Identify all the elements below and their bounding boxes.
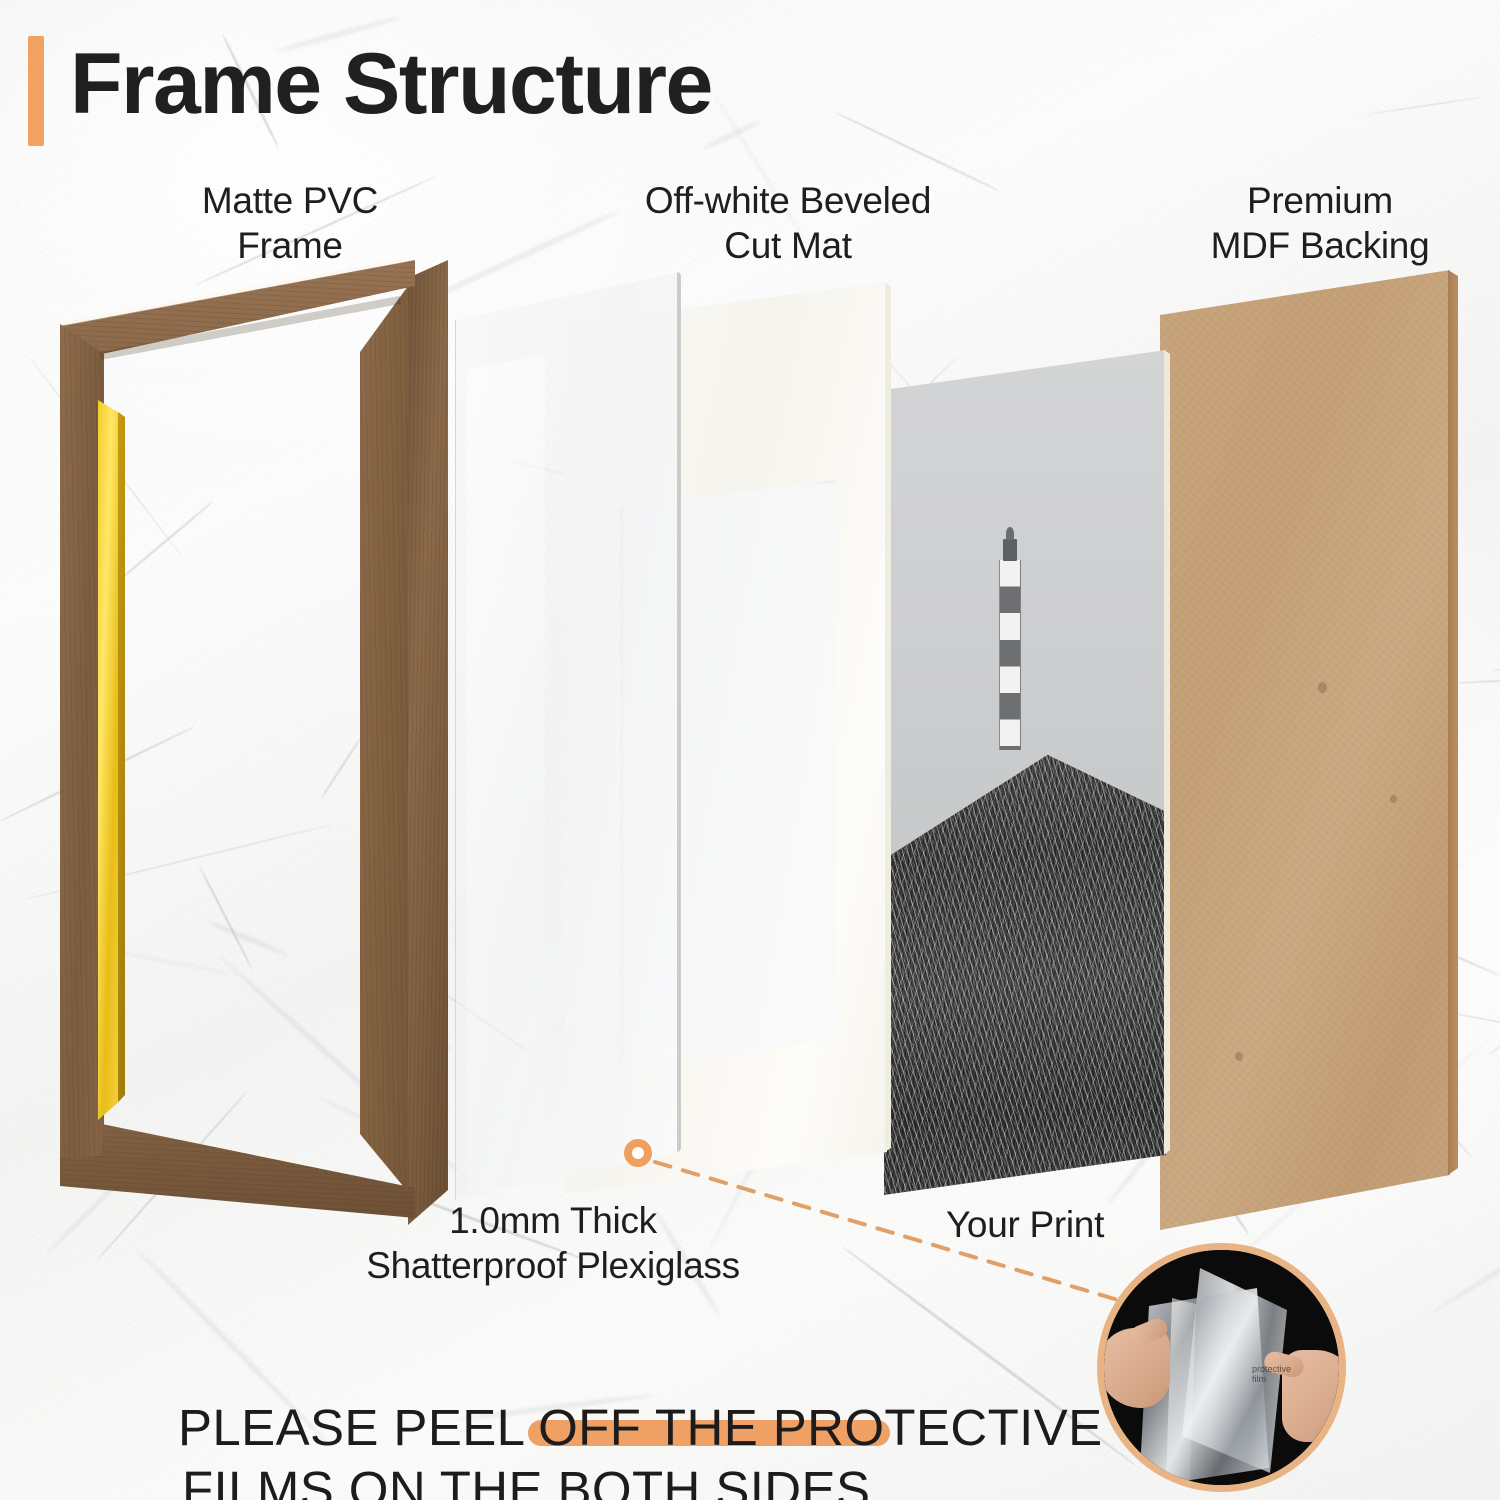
frame-side-thickness — [408, 260, 448, 1225]
mdf-board-edge — [1448, 270, 1458, 1230]
frame-gold-inner-edge — [98, 400, 121, 1120]
callout-plexiglass: 1.0mm Thick Shatterproof Plexiglass — [288, 1198, 818, 1288]
lighthouse-lamp — [1003, 539, 1017, 561]
mdf-knot-mark — [1318, 682, 1327, 693]
frame-gold-shadow — [118, 412, 125, 1112]
peel-notice-line2-highlight-text: BOTH SIDES — [557, 1461, 870, 1500]
plexiglass-right-edge — [677, 272, 681, 1212]
layer-frame — [60, 260, 480, 1225]
callout-backing: Premium MDF Backing — [1140, 178, 1500, 268]
print-edge — [1164, 350, 1170, 1230]
peel-notice-line2-prefix: FILMS ON THE — [182, 1461, 557, 1500]
protective-film-photo-inset: protective film — [1097, 1243, 1346, 1492]
mdf-knot-mark — [1235, 1052, 1243, 1061]
film-logo-text: protective film — [1252, 1364, 1291, 1385]
mat-right-edge — [885, 282, 891, 1212]
print-photo — [884, 350, 1166, 1230]
mdf-board-face — [1160, 270, 1450, 1230]
peel-notice-line1-text: PLEASE PEEL OFF THE PROTECTIVE — [178, 1399, 1103, 1456]
layer-plexiglass — [455, 272, 715, 1212]
lighthouse-icon — [999, 560, 1021, 750]
connector-ring-marker — [624, 1139, 652, 1167]
callout-frame: Matte PVC Frame — [110, 178, 470, 268]
layer-mdf-backing — [1160, 270, 1500, 1230]
frame-right-rail — [360, 274, 416, 1209]
callout-mat: Off-white Beveled Cut Mat — [568, 178, 1008, 268]
callout-print: Your Print — [890, 1202, 1160, 1247]
layer-print — [884, 350, 1174, 1230]
lighthouse-cap — [1006, 527, 1014, 540]
infographic-canvas: Frame Structure — [0, 0, 1500, 1500]
lighthouse-tower — [999, 560, 1021, 750]
mdf-knot-mark — [1390, 795, 1397, 803]
